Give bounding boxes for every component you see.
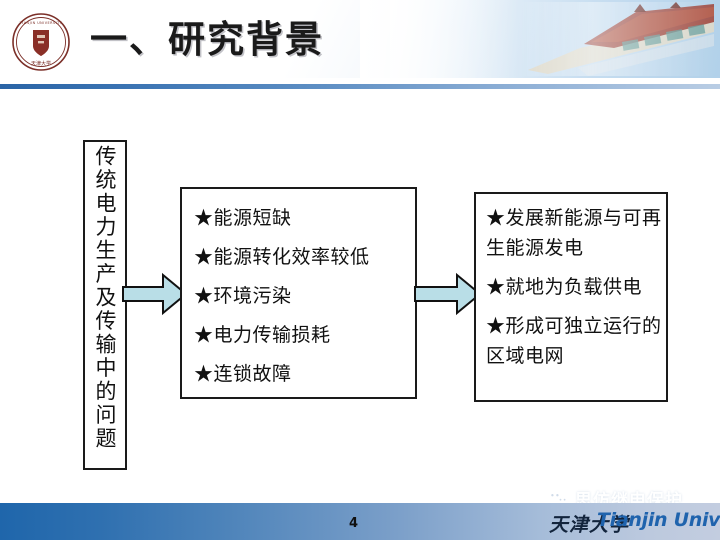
problem-item: ★连锁故障 — [194, 355, 415, 394]
header-divider-highlight — [0, 89, 720, 90]
solutions-box: ★发展新能源与可再生能源发电 ★就地为负载供电 ★形成可独立运行的区域电网 — [474, 192, 668, 402]
solution-item: ★发展新能源与可再生能源发电 — [486, 203, 666, 263]
page-number: 4 — [349, 516, 358, 531]
svg-text:TIANJIN UNIVERSITY: TIANJIN UNIVERSITY — [19, 21, 63, 25]
problem-item: ★能源转化效率较低 — [194, 238, 415, 277]
slide-header: 天津大学 TIANJIN UNIVERSITY 一、研究背景 — [0, 0, 720, 78]
problem-item: ★环境污染 — [194, 277, 415, 316]
arrow-problems-to-solutions — [414, 270, 482, 318]
problem-item: ★电力传输损耗 — [194, 316, 415, 355]
arrow-source-to-problems — [122, 270, 188, 318]
svg-text:天津大学: 天津大学 — [31, 60, 51, 67]
temple-roof-photo — [518, 2, 714, 76]
problems-box: ★能源短缺 ★能源转化效率较低 ★环境污染 ★电力传输损耗 ★连锁故障 — [180, 187, 417, 399]
tianjin-university-seal-logo: 天津大学 TIANJIN UNIVERSITY — [11, 12, 71, 72]
solution-item: ★就地为负载供电 — [486, 272, 666, 302]
slide-canvas: 天津大学 TIANJIN UNIVERSITY 一、研究背景 传统电力生产及传输… — [0, 0, 720, 540]
solution-item: ★形成可独立运行的区域电网 — [486, 311, 666, 371]
page-title: 一、研究背景 — [90, 14, 324, 66]
university-name-en: Tianjin University — [597, 509, 720, 531]
problem-item: ★能源短缺 — [194, 199, 415, 238]
source-problem-label: 传统电力生产及传输中的问题 — [93, 145, 117, 451]
source-problem-box: 传统电力生产及传输中的问题 — [83, 140, 127, 470]
